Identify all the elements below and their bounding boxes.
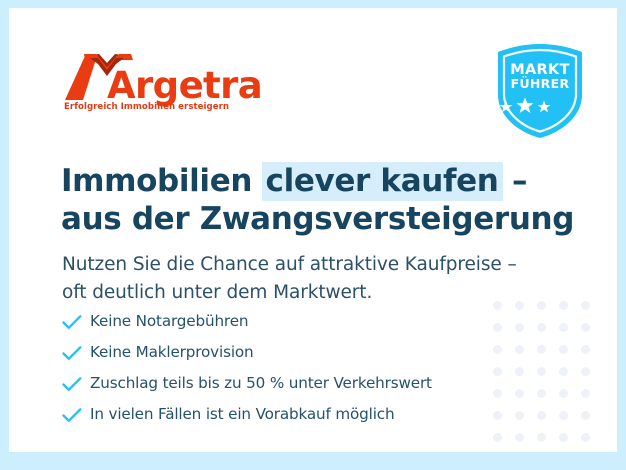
headline: Immobilien clever kaufen – aus der Zwang…: [61, 162, 561, 238]
decorative-dot: [537, 433, 546, 442]
check-icon: [62, 376, 90, 392]
benefit-label: Keine Maklerprovision: [90, 345, 254, 360]
promo-banner: Argetra Erfolgreich Immobilien ersteiger…: [0, 0, 626, 470]
decorative-dot: [493, 433, 502, 442]
decorative-dot: [559, 433, 568, 442]
decorative-dot: [581, 323, 590, 332]
decorative-dot: [537, 389, 546, 398]
banner-card: Argetra Erfolgreich Immobilien ersteiger…: [9, 8, 617, 452]
benefit-item: In vielen Fällen ist ein Vorabkauf mögli…: [62, 399, 532, 430]
decorative-dot: [581, 345, 590, 354]
decorative-dot: [581, 411, 590, 420]
decorative-dot: [537, 411, 546, 420]
subheadline: Nutzen Sie die Chance auf attraktive Kau…: [62, 251, 562, 307]
logo-tagline: Erfolgreich Immobilien ersteigern: [64, 102, 229, 112]
decorative-dot: [537, 323, 546, 332]
decorative-dot: [581, 367, 590, 376]
decorative-dot: [581, 433, 590, 442]
decorative-dot: [559, 367, 568, 376]
benefit-label: In vielen Fällen ist ein Vorabkauf mögli…: [90, 407, 395, 422]
subheadline-line-2: oft deutlich unter dem Marktwert.: [62, 279, 562, 307]
check-icon: [62, 345, 90, 361]
shield-icon: [496, 43, 584, 139]
decorative-dot: [537, 345, 546, 354]
market-leader-badge: MARKT FÜHRER: [496, 43, 584, 139]
decorative-dot: [559, 389, 568, 398]
decorative-dot: [537, 367, 546, 376]
headline-text-after: –: [502, 163, 528, 199]
decorative-dot: [559, 411, 568, 420]
decorative-dot: [515, 433, 524, 442]
benefit-item: Zuschlag teils bis zu 50 % unter Verkehr…: [62, 368, 532, 399]
benefits-list: Keine NotargebührenKeine Maklerprovision…: [62, 306, 532, 430]
benefit-item: Keine Maklerprovision: [62, 337, 532, 368]
benefit-item: Keine Notargebühren: [62, 306, 532, 337]
headline-highlight: clever kaufen: [262, 162, 503, 201]
subheadline-line-1: Nutzen Sie die Chance auf attraktive Kau…: [62, 251, 562, 279]
decorative-dot: [581, 301, 590, 310]
decorative-dot: [559, 323, 568, 332]
benefit-label: Keine Notargebühren: [90, 314, 248, 329]
headline-text-before: Immobilien: [61, 163, 263, 199]
decorative-dot: [559, 345, 568, 354]
check-icon: [62, 407, 90, 423]
logo-wordmark: Argetra: [107, 67, 262, 104]
decorative-dot: [581, 389, 590, 398]
argetra-logo[interactable]: Argetra Erfolgreich Immobilien ersteiger…: [63, 52, 273, 118]
headline-line-2: aus der Zwangsversteigerung: [61, 200, 561, 238]
benefit-label: Zuschlag teils bis zu 50 % unter Verkehr…: [90, 376, 432, 391]
check-icon: [62, 314, 90, 330]
headline-line-1: Immobilien clever kaufen –: [61, 162, 561, 200]
